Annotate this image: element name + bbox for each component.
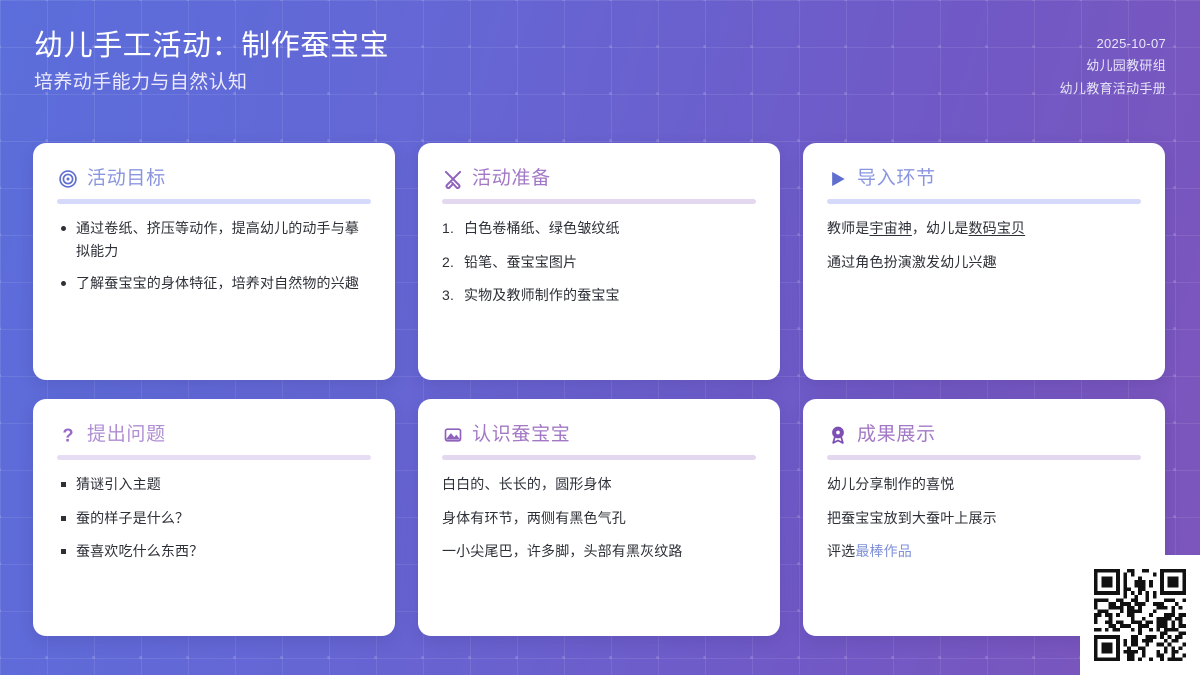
plain-text: 幼儿分享制作的喜悦 bbox=[827, 476, 954, 492]
highlighted-text[interactable]: 最棒作品 bbox=[855, 543, 912, 559]
text-line: 一小尖尾巴，许多脚，头部有黑灰纹路 bbox=[442, 540, 756, 563]
plain-text: 通过角色扮演激发幼儿兴趣 bbox=[827, 254, 997, 270]
card-introduction-stage: 导入环节教师是宇宙神，幼儿是数码宝贝通过角色扮演激发幼儿兴趣 bbox=[803, 143, 1165, 380]
card-body: 幼儿分享制作的喜悦把蚕宝宝放到大蚕叶上展示评选最棒作品 bbox=[827, 473, 1141, 563]
image-icon bbox=[442, 424, 463, 445]
card-grid: 活动目标通过卷纸、挤压等动作，提高幼儿的动手与摹拟能力了解蚕宝宝的身体特征，培养… bbox=[33, 143, 1167, 636]
meta-date: 2025-10-07 bbox=[1097, 33, 1167, 55]
qr-code bbox=[1094, 569, 1186, 661]
card-body: 教师是宇宙神，幼儿是数码宝贝通过角色扮演激发幼儿兴趣 bbox=[827, 217, 1141, 273]
list-item: 铅笔、蚕宝宝图片 bbox=[442, 251, 756, 274]
card-numbered-list: 白色卷桶纸、绿色皱纹纸铅笔、蚕宝宝图片实物及教师制作的蚕宝宝 bbox=[442, 217, 756, 307]
card-bullet-list: 猜谜引入主题蚕的样子是什么？蚕喜欢吃什么东西？ bbox=[57, 473, 371, 563]
underlined-text: 数码宝贝 bbox=[969, 220, 1026, 236]
list-item: 通过卷纸、挤压等动作，提高幼儿的动手与摹拟能力 bbox=[57, 217, 371, 262]
text-line: 白白的、长长的，圆形身体 bbox=[442, 473, 756, 496]
card-header: ?提出问题 bbox=[57, 421, 371, 448]
card-title: 提出问题 bbox=[87, 425, 166, 444]
card-header: 活动准备 bbox=[442, 165, 756, 192]
card-body: 猜谜引入主题蚕的样子是什么？蚕喜欢吃什么东西？ bbox=[57, 473, 371, 563]
card-title-underline bbox=[442, 199, 756, 204]
meta-source: 幼儿教育活动手册 bbox=[1060, 78, 1166, 100]
card-title-underline bbox=[827, 199, 1141, 204]
list-item: 蚕的样子是什么？ bbox=[57, 507, 371, 530]
page-title: 幼儿手工活动：制作蚕宝宝 bbox=[34, 27, 389, 65]
card-title: 成果展示 bbox=[857, 425, 936, 444]
svg-text:?: ? bbox=[62, 425, 73, 445]
underlined-text: 宇宙神 bbox=[869, 220, 911, 236]
plain-text: 身体有环节，两侧有黑色气孔 bbox=[442, 510, 626, 526]
card-header: 活动目标 bbox=[57, 165, 371, 192]
plain-text: 评选 bbox=[827, 543, 855, 559]
qr-code-panel[interactable] bbox=[1080, 555, 1200, 675]
text-line: 把蚕宝宝放到大蚕叶上展示 bbox=[827, 507, 1141, 530]
text-line: 教师是宇宙神，幼儿是数码宝贝 bbox=[827, 217, 1141, 240]
play-icon bbox=[827, 168, 848, 189]
text-line: 通过角色扮演激发幼儿兴趣 bbox=[827, 251, 1141, 274]
list-item: 猜谜引入主题 bbox=[57, 473, 371, 496]
card-body: 白色卷桶纸、绿色皱纹纸铅笔、蚕宝宝图片实物及教师制作的蚕宝宝 bbox=[442, 217, 756, 307]
card-activity-goal: 活动目标通过卷纸、挤压等动作，提高幼儿的动手与摹拟能力了解蚕宝宝的身体特征，培养… bbox=[33, 143, 395, 380]
award-icon bbox=[827, 424, 848, 445]
plain-text: 一小尖尾巴，许多脚，头部有黑灰纹路 bbox=[442, 543, 683, 559]
plain-text: ，幼儿是 bbox=[912, 220, 969, 236]
card-title: 认识蚕宝宝 bbox=[472, 425, 571, 444]
card-title-underline bbox=[827, 455, 1141, 460]
card-title-underline bbox=[57, 199, 371, 204]
card-title-underline bbox=[442, 455, 756, 460]
card-body: 通过卷纸、挤压等动作，提高幼儿的动手与摹拟能力了解蚕宝宝的身体特征，培养对自然物… bbox=[57, 217, 371, 295]
card-title-underline bbox=[57, 455, 371, 460]
card-title: 活动准备 bbox=[472, 169, 551, 188]
card-header: 认识蚕宝宝 bbox=[442, 421, 756, 448]
card-header: 导入环节 bbox=[827, 165, 1141, 192]
question-mark-icon: ? bbox=[57, 424, 78, 445]
plain-text: 白白的、长长的，圆形身体 bbox=[442, 476, 612, 492]
slide-canvas: 幼儿手工活动：制作蚕宝宝 培养动手能力与自然认知 2025-10-07 幼儿园教… bbox=[0, 0, 1200, 675]
slide-header: 幼儿手工活动：制作蚕宝宝 培养动手能力与自然认知 2025-10-07 幼儿园教… bbox=[0, 0, 1200, 133]
page-subtitle: 培养动手能力与自然认知 bbox=[34, 70, 389, 96]
card-raise-questions: ?提出问题猜谜引入主题蚕的样子是什么？蚕喜欢吃什么东西？ bbox=[33, 399, 395, 636]
header-title-block: 幼儿手工活动：制作蚕宝宝 培养动手能力与自然认知 bbox=[34, 27, 389, 96]
card-title: 导入环节 bbox=[857, 169, 936, 188]
list-item: 蚕喜欢吃什么东西？ bbox=[57, 540, 371, 563]
header-meta-block: 2025-10-07 幼儿园教研组 幼儿教育活动手册 bbox=[1060, 27, 1166, 100]
card-title: 活动目标 bbox=[87, 169, 166, 188]
card-activity-preparation: 活动准备白色卷桶纸、绿色皱纹纸铅笔、蚕宝宝图片实物及教师制作的蚕宝宝 bbox=[418, 143, 780, 380]
tools-icon bbox=[442, 168, 463, 189]
card-bullet-list: 通过卷纸、挤压等动作，提高幼儿的动手与摹拟能力了解蚕宝宝的身体特征，培养对自然物… bbox=[57, 217, 371, 295]
card-header: 成果展示 bbox=[827, 421, 1141, 448]
list-item: 实物及教师制作的蚕宝宝 bbox=[442, 284, 756, 307]
text-line: 幼儿分享制作的喜悦 bbox=[827, 473, 1141, 496]
card-body: 白白的、长长的，圆形身体身体有环节，两侧有黑色气孔一小尖尾巴，许多脚，头部有黑灰… bbox=[442, 473, 756, 563]
plain-text: 教师是 bbox=[827, 220, 869, 236]
plain-text: 把蚕宝宝放到大蚕叶上展示 bbox=[827, 510, 997, 526]
meta-organization: 幼儿园教研组 bbox=[1086, 55, 1166, 77]
list-item: 了解蚕宝宝的身体特征，培养对自然物的兴趣 bbox=[57, 272, 371, 295]
card-know-the-silkworm: 认识蚕宝宝白白的、长长的，圆形身体身体有环节，两侧有黑色气孔一小尖尾巴，许多脚，… bbox=[418, 399, 780, 636]
list-item: 白色卷桶纸、绿色皱纹纸 bbox=[442, 217, 756, 240]
text-line: 身体有环节，两侧有黑色气孔 bbox=[442, 507, 756, 530]
target-icon bbox=[57, 168, 78, 189]
